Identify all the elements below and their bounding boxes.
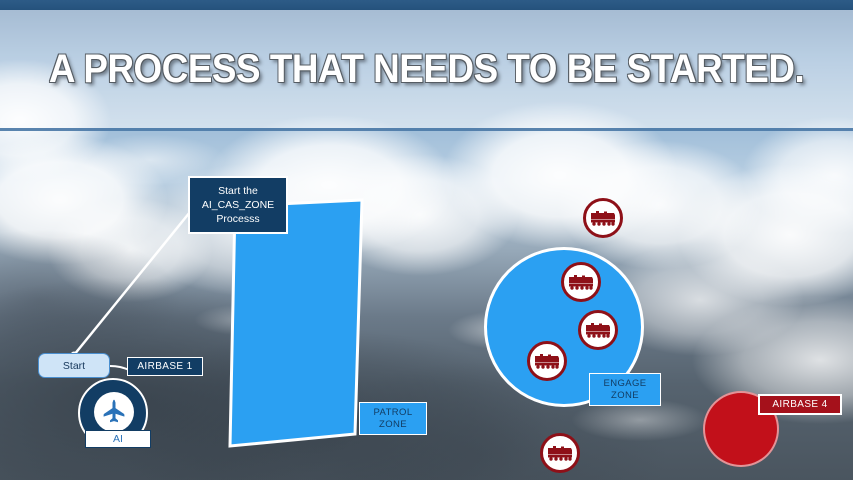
patrol-zone-label-line-2: ZONE — [379, 419, 407, 431]
patrol-zone-label[interactable]: PATROL ZONE — [359, 402, 427, 435]
engage-zone-label-line-1: ENGAGE — [603, 378, 646, 390]
tank-icon — [585, 322, 611, 338]
slide-canvas: A PROCESS THAT NEEDS TO BE STARTED. Star… — [0, 0, 853, 480]
ai-unit-label[interactable]: AI — [85, 430, 151, 448]
diagram-shapes: Start the AI_CAS_ZONE Processs Start AIR… — [0, 0, 853, 480]
patrol-zone-shape[interactable] — [225, 198, 370, 448]
fighter-jet-icon — [94, 392, 134, 432]
tank-icon — [568, 274, 594, 290]
callout-line-2: AI_CAS_ZONE — [194, 198, 282, 212]
tank-icon — [534, 353, 560, 369]
patrol-zone-label-line-1: PATROL — [374, 407, 413, 419]
callout-line-3: Processs — [194, 212, 282, 226]
engage-zone-label-line-2: ZONE — [611, 390, 639, 402]
tank-icon — [547, 445, 573, 461]
enemy-tank-marker[interactable] — [527, 341, 567, 381]
start-process-callout[interactable]: Start the AI_CAS_ZONE Processs — [188, 176, 288, 234]
airbase-4-label[interactable]: AIRBASE 4 — [758, 394, 842, 415]
airbase-1-label[interactable]: AIRBASE 1 — [127, 357, 203, 376]
enemy-tank-marker[interactable] — [583, 198, 623, 238]
callout-line-1: Start the — [194, 184, 282, 198]
enemy-tank-marker[interactable] — [561, 262, 601, 302]
enemy-tank-marker[interactable] — [540, 433, 580, 473]
start-button[interactable]: Start — [38, 353, 110, 378]
engage-zone-label[interactable]: ENGAGE ZONE — [589, 373, 661, 406]
enemy-tank-marker[interactable] — [578, 310, 618, 350]
tank-icon — [590, 210, 616, 226]
